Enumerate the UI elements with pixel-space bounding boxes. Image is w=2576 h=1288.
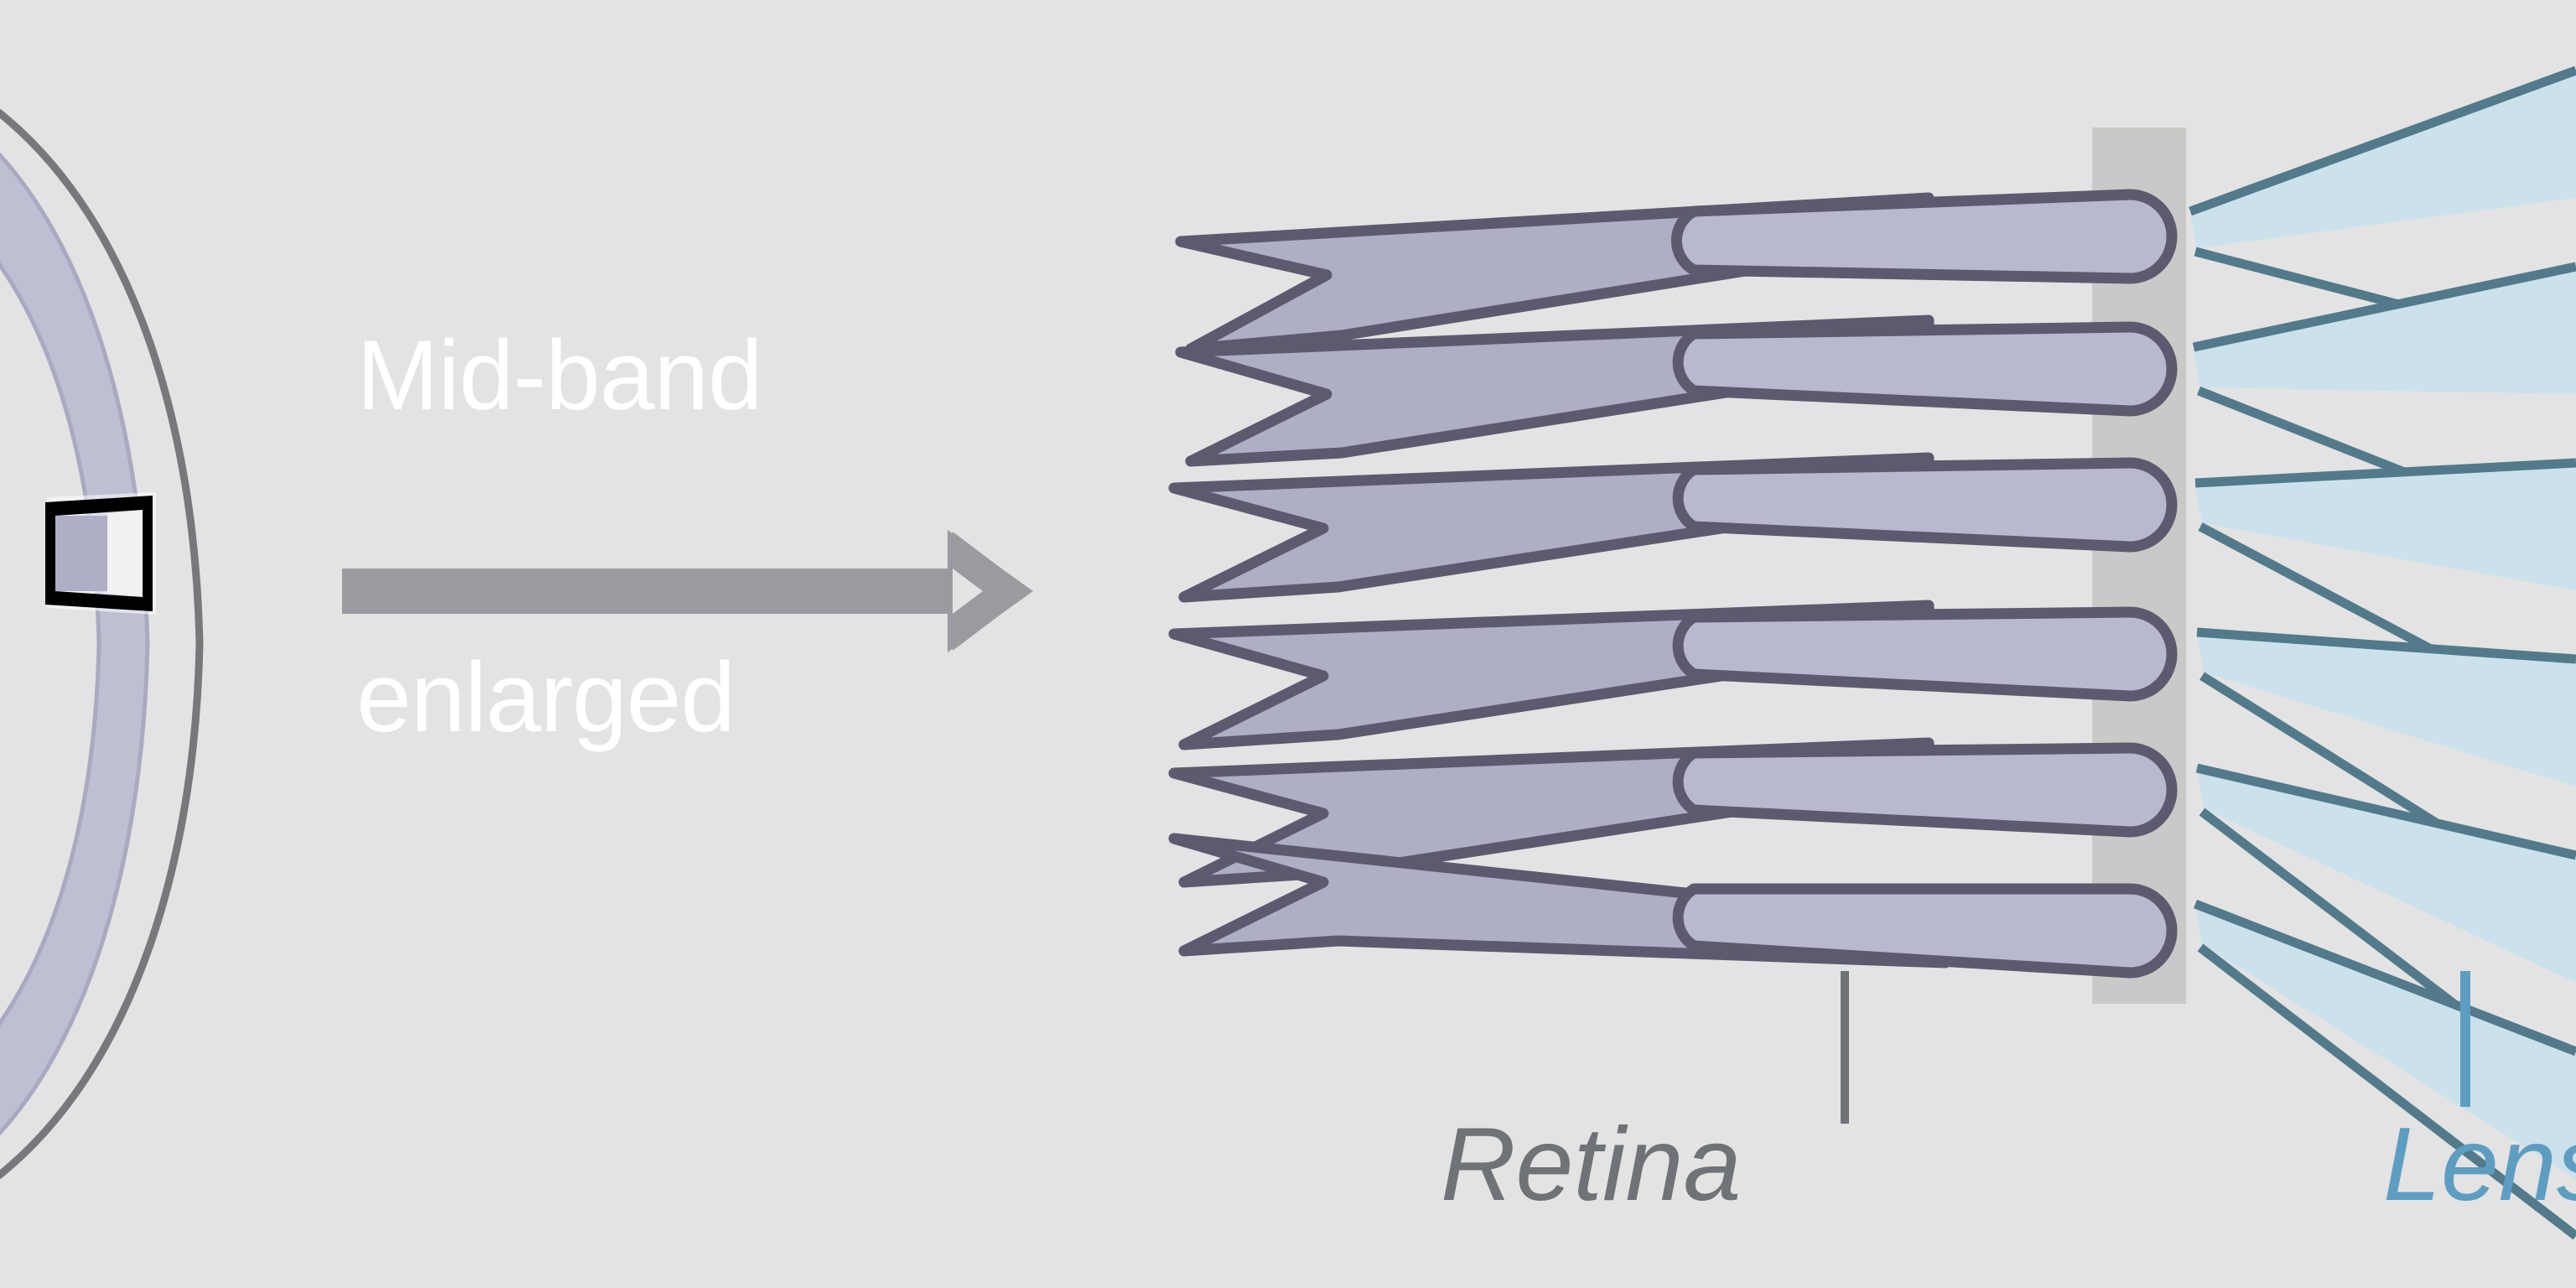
photoreceptor-row-3 [1174,458,2172,597]
photoreceptor-1-distal [1676,195,2172,278]
retina-label: Retina [1441,1105,1741,1224]
light-cone-1 [2190,74,2576,248]
photoreceptor-row-2 [1181,320,2172,461]
photoreceptor-cells [1174,195,2172,973]
photoreceptor-2-distal [1678,327,2172,411]
diagram-canvas: Mid-band enlarged [0,0,2576,1288]
photoreceptor-row-6 [1174,839,2172,973]
light-cone-group [2190,70,2576,1236]
light-cone-3 [2195,466,2576,590]
photoreceptor-4-distal [1678,612,2172,696]
photoreceptor-3-distal [1678,463,2172,547]
photoreceptor-array [0,0,2576,1288]
lens-label: Lens [2383,1105,2576,1224]
photoreceptor-5-distal [1678,748,2172,832]
photoreceptor-row-4 [1174,605,2172,745]
